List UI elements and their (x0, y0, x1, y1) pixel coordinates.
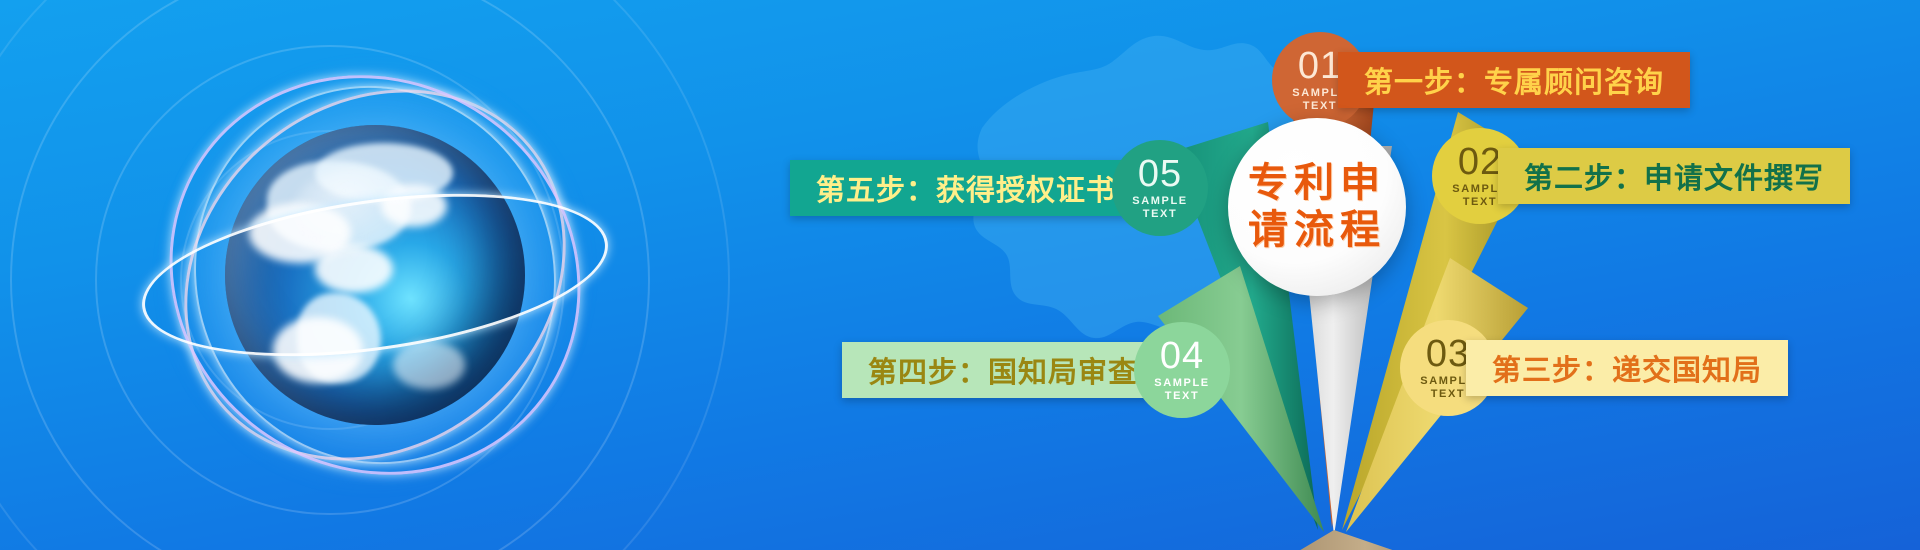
center-title-badge: 专利申 请流程 (1228, 118, 1406, 296)
step-row-03[interactable]: 03 SAMPLETEXT 第三步：递交国知局 (1400, 320, 1788, 416)
step-number-badge-04: 04 SAMPLETEXT (1134, 322, 1230, 418)
step-number-05: 05 (1138, 156, 1182, 192)
step-label-02: 第二步：申请文件撰写 (1524, 155, 1824, 197)
step-row-01[interactable]: 01 SAMPLETEXT 第一步：专属顾问咨询 (1272, 32, 1690, 128)
step-label-05: 第五步：获得授权证书 (816, 167, 1116, 209)
step-sample-text-04: SAMPLETEXT (1154, 377, 1209, 402)
step-row-04[interactable]: 第四步：国知局审查 04 SAMPLETEXT (842, 322, 1230, 418)
step-number-04: 04 (1160, 338, 1204, 374)
step-label-bar-02[interactable]: 第二步：申请文件撰写 (1498, 148, 1850, 204)
step-label-04: 第四步：国知局审查 (868, 349, 1138, 391)
step-label-bar-03[interactable]: 第三步：递交国知局 (1466, 340, 1788, 396)
step-label-01: 第一步：专属顾问咨询 (1364, 59, 1664, 101)
cone-base (1250, 530, 1480, 550)
step-number-01: 01 (1298, 48, 1342, 84)
step-number-02: 02 (1458, 144, 1502, 180)
step-number-03: 03 (1426, 336, 1470, 372)
step-label-bar-05[interactable]: 第五步：获得授权证书 (790, 160, 1142, 216)
step-label-bar-04[interactable]: 第四步：国知局审查 (842, 342, 1164, 398)
step-row-02[interactable]: 02 SAMPLETEXT 第二步：申请文件撰写 (1432, 128, 1850, 224)
step-sample-text-05: SAMPLETEXT (1132, 195, 1187, 220)
step-row-05[interactable]: 第五步：获得授权证书 05 SAMPLETEXT (790, 140, 1208, 236)
center-title-line2: 请流程 (1248, 207, 1386, 254)
step-label-bar-01[interactable]: 第一步：专属顾问咨询 (1338, 52, 1690, 108)
earth-globe-illustration (95, 45, 655, 505)
patent-process-banner: 01 SAMPLETEXT 第一步：专属顾问咨询 02 SAMPLETEXT 第… (0, 0, 1920, 550)
step-label-03: 第三步：递交国知局 (1492, 347, 1762, 389)
step-number-badge-05: 05 SAMPLETEXT (1112, 140, 1208, 236)
center-title-line1: 专利申 (1248, 160, 1386, 207)
